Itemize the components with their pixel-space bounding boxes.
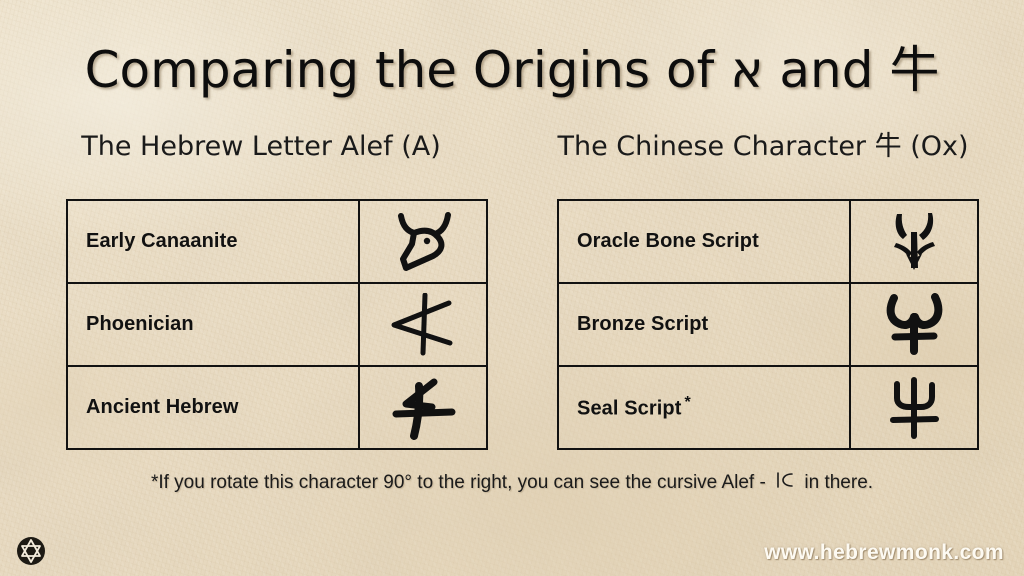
table-row: Ancient Hebrew bbox=[67, 366, 487, 449]
ancient-hebrew-alef-glyph bbox=[359, 366, 487, 449]
row-label-early-canaanite: Early Canaanite bbox=[67, 200, 359, 283]
star-of-david-logo[interactable] bbox=[14, 534, 48, 568]
table-row: Bronze Script bbox=[558, 283, 978, 366]
row-label-seal-script: Seal Script* bbox=[558, 366, 850, 449]
row-label-oracle-bone-script: Oracle Bone Script bbox=[558, 200, 850, 283]
star-of-david-icon bbox=[14, 534, 48, 568]
cursive-alef-icon bbox=[774, 470, 796, 490]
ancient-hebrew-alef-icon bbox=[386, 376, 460, 440]
ox-eye-dot bbox=[424, 237, 430, 243]
footnote-text-before: *If you rotate this character 90° to the… bbox=[151, 472, 766, 493]
slide-background: Comparing the Origins of א and 牛 The Heb… bbox=[0, 0, 1024, 576]
row-label-text: Bronze Script bbox=[577, 313, 708, 335]
page-title: Comparing the Origins of א and 牛 bbox=[0, 40, 1024, 100]
chinese-ox-table: Oracle Bone Script Bronze Script bbox=[557, 199, 979, 450]
right-column-heading: The Chinese Character 牛 (Ox) bbox=[528, 129, 998, 164]
canaanite-ox-head-glyph bbox=[359, 200, 487, 283]
right-column-heading-text: The Chinese Character 牛 (Ox) bbox=[557, 131, 968, 162]
seal-script-ox-icon bbox=[877, 376, 951, 440]
row-label-bronze-script: Bronze Script bbox=[558, 283, 850, 366]
website-watermark: www.hebrewmonk.com bbox=[764, 539, 1004, 567]
row-label-text: Seal Script bbox=[577, 398, 681, 420]
footnote: *If you rotate this character 90° to the… bbox=[0, 470, 1024, 498]
canaanite-ox-head-icon bbox=[386, 210, 460, 274]
oracle-bone-ox-glyph bbox=[850, 200, 978, 283]
oracle-bone-ox-icon bbox=[877, 210, 951, 274]
cursive-alef-glyph bbox=[774, 470, 796, 498]
phoenician-alef-glyph bbox=[359, 283, 487, 366]
left-column-heading-text: The Hebrew Letter Alef (A) bbox=[81, 131, 441, 162]
bronze-script-ox-glyph bbox=[850, 283, 978, 366]
phoenician-alef-icon bbox=[386, 293, 460, 357]
table-row: Phoenician bbox=[67, 283, 487, 366]
bronze-script-ox-icon bbox=[877, 293, 951, 357]
table-row: Oracle Bone Script bbox=[558, 200, 978, 283]
left-column-heading: The Hebrew Letter Alef (A) bbox=[26, 129, 496, 164]
footnote-text-after: in there. bbox=[804, 472, 873, 493]
table-row: Seal Script* bbox=[558, 366, 978, 449]
row-label-text: Oracle Bone Script bbox=[577, 230, 759, 252]
row-label-ancient-hebrew: Ancient Hebrew bbox=[67, 366, 359, 449]
row-label-phoenician: Phoenician bbox=[67, 283, 359, 366]
hebrew-alef-table: Early Canaanite Phoenician bbox=[66, 199, 488, 450]
footnote-marker: * bbox=[684, 394, 690, 411]
table-row: Early Canaanite bbox=[67, 200, 487, 283]
page-title-text: Comparing the Origins of א and 牛 bbox=[85, 41, 940, 99]
seal-script-ox-glyph bbox=[850, 366, 978, 449]
